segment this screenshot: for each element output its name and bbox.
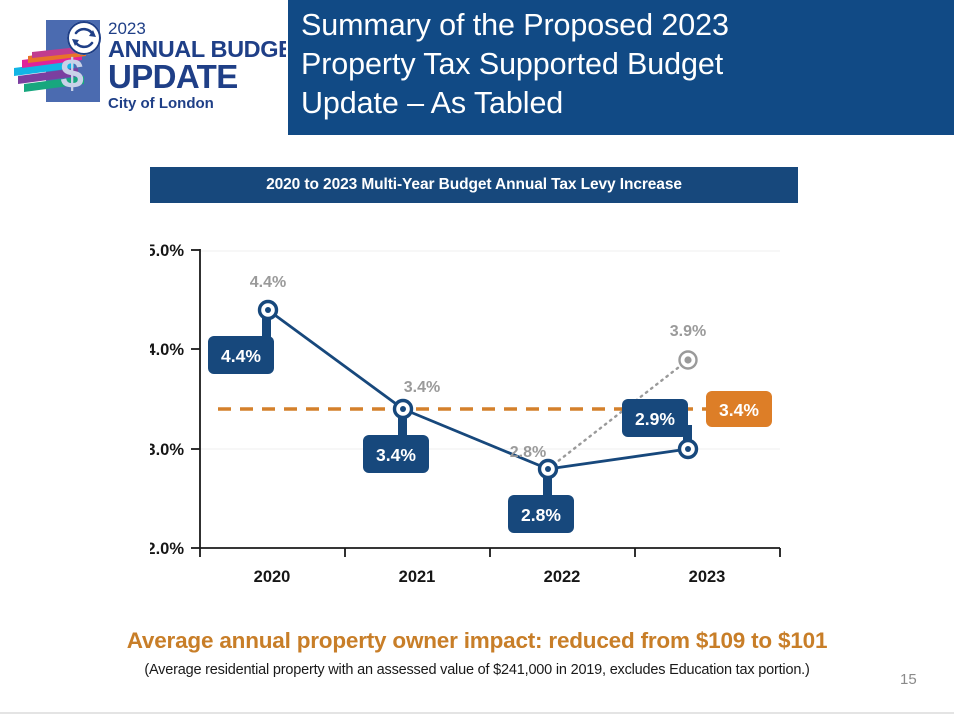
impact-headline: Average annual property owner impact: re… (0, 628, 954, 654)
logo-line2: UPDATE (108, 58, 238, 95)
y-tick-label-1: 4.0% (150, 341, 184, 359)
callout-label-2023: 2.9% (635, 409, 675, 429)
callout-amended-2021: 3.4% (363, 411, 429, 473)
slide-header-banner: Summary of the Proposed 2023 Property Ta… (288, 0, 954, 135)
dollar-sign-icon: $ (60, 50, 83, 97)
callout-amended-2022: 2.8% (508, 471, 574, 533)
series-amended-line (268, 310, 688, 469)
marker-amended-2021 (395, 401, 412, 418)
x-tick-label-2023: 2023 (689, 568, 726, 586)
y-tick-label-3: 2.0% (150, 540, 184, 558)
refresh-cycle-icon (67, 21, 101, 55)
x-tick-label-2020: 2020 (254, 568, 291, 586)
callout-label-2020: 4.4% (221, 346, 261, 366)
page-title: Summary of the Proposed 2023 Property Ta… (301, 6, 941, 123)
badge-label-average: 3.4% (719, 400, 759, 420)
callout-label-2021: 3.4% (376, 445, 416, 465)
chart-plot-area: 5.0% 4.0% 3.0% 2.0% 2020 2021 2022 2023 … (150, 203, 798, 592)
callout-amended-2020: 4.4% (208, 313, 274, 374)
marker-amended-2023 (680, 441, 697, 458)
chart-title-bar: 2020 to 2023 Multi-Year Budget Annual Ta… (150, 167, 798, 203)
marker-prev-2023 (680, 352, 697, 369)
x-tick-label-2022: 2022 (544, 568, 581, 586)
y-tick-label-0: 5.0% (150, 242, 184, 260)
line-chart-svg: 5.0% 4.0% 3.0% 2.0% 2020 2021 2022 2023 … (150, 203, 798, 592)
point-label-prev-2022: 2.8% (510, 444, 546, 461)
page-number: 15 (900, 671, 940, 688)
marker-amended-2022 (540, 461, 557, 478)
point-label-prev-2021: 3.4% (404, 379, 440, 396)
impact-note: (Average residential property with an as… (0, 662, 954, 678)
y-tick-label-2: 3.0% (150, 441, 184, 459)
point-label-prev-2023: 3.9% (670, 323, 706, 340)
chart-title: 2020 to 2023 Multi-Year Budget Annual Ta… (150, 167, 798, 203)
series-previously-approved-line (268, 310, 688, 469)
point-label-prev-2020: 4.4% (250, 274, 286, 291)
logo-line3: City of London (108, 95, 214, 112)
marker-amended-2020 (260, 302, 277, 319)
logo-svg: $ 2023 ANNUAL BUDGET UPDATE City of Lond… (8, 12, 286, 116)
badge-four-year-average: 3.4% (706, 391, 772, 427)
callout-label-2022: 2.8% (521, 505, 561, 525)
x-tick-label-2021: 2021 (399, 568, 436, 586)
chart-card: 2020 to 2023 Multi-Year Budget Annual Ta… (150, 167, 798, 592)
annual-budget-update-logo: $ 2023 ANNUAL BUDGET UPDATE City of Lond… (8, 12, 286, 116)
